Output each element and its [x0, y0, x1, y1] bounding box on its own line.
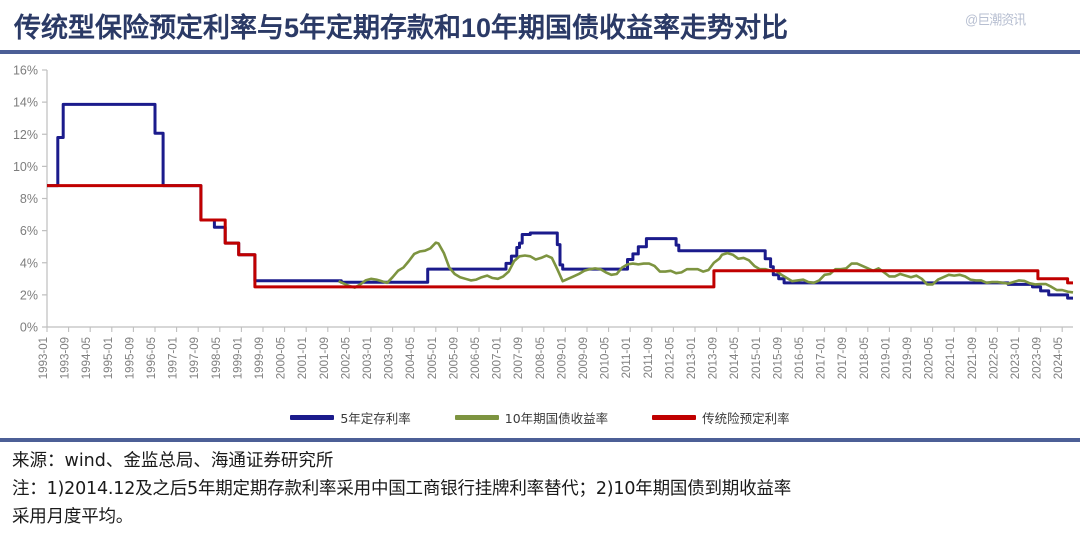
svg-text:1996-05: 1996-05 — [146, 337, 158, 379]
svg-text:2019-09: 2019-09 — [902, 337, 914, 379]
chart-legend: 5年定存利率 10年期国债收益率 传统险预定利率 — [0, 404, 1080, 430]
svg-text:2006-05: 2006-05 — [470, 337, 482, 379]
svg-text:2%: 2% — [20, 288, 38, 302]
footer-note-line-2: 采用月度平均。 — [12, 503, 1072, 531]
svg-text:2007-01: 2007-01 — [492, 337, 504, 379]
legend-item-deposit-5y: 5年定存利率 — [290, 408, 410, 427]
svg-text:2022-05: 2022-05 — [988, 337, 1000, 379]
svg-text:1995-09: 1995-09 — [124, 337, 136, 379]
svg-text:2008-05: 2008-05 — [535, 337, 547, 379]
svg-text:2003-09: 2003-09 — [384, 337, 396, 379]
svg-text:2021-01: 2021-01 — [945, 337, 957, 379]
svg-text:2004-05: 2004-05 — [405, 337, 417, 379]
svg-text:2021-09: 2021-09 — [967, 337, 979, 379]
svg-text:2015-09: 2015-09 — [772, 337, 784, 379]
footer-note-line-1: 注：1)2014.12及之后5年期定期存款利率采用中国工商银行挂牌利率替代；2)… — [12, 475, 1072, 503]
chart-footer: 来源：wind、金监总局、海通证券研究所 注：1)2014.12及之后5年期定期… — [12, 447, 1072, 531]
legend-label-deposit-5y: 5年定存利率 — [340, 408, 410, 427]
svg-text:2023-01: 2023-01 — [1010, 337, 1022, 379]
svg-text:2001-09: 2001-09 — [319, 337, 331, 379]
svg-text:2023-09: 2023-09 — [1032, 337, 1044, 379]
svg-text:2018-05: 2018-05 — [859, 337, 871, 379]
svg-text:1993-09: 1993-09 — [60, 337, 72, 379]
legend-swatch-bond-10y — [455, 415, 499, 420]
svg-text:16%: 16% — [13, 64, 38, 78]
svg-text:2010-05: 2010-05 — [600, 337, 612, 379]
svg-text:2024-05: 2024-05 — [1053, 337, 1065, 379]
legend-swatch-deposit-5y — [290, 415, 334, 420]
line-chart: 0%2%4%6%8%10%12%14%16%1993-011993-091994… — [0, 56, 1080, 406]
svg-text:1997-01: 1997-01 — [168, 337, 180, 379]
legend-item-insurance-rate: 传统险预定利率 — [652, 408, 790, 427]
legend-swatch-insurance-rate — [652, 415, 696, 420]
svg-text:2016-05: 2016-05 — [794, 337, 806, 379]
svg-text:4%: 4% — [20, 256, 38, 270]
svg-text:0%: 0% — [20, 321, 38, 335]
svg-text:2009-09: 2009-09 — [578, 337, 590, 379]
svg-text:2009-01: 2009-01 — [556, 337, 568, 379]
svg-text:10%: 10% — [13, 160, 38, 174]
svg-text:1999-09: 1999-09 — [254, 337, 266, 379]
divider-top — [0, 50, 1080, 54]
title-bar: 传统型保险预定利率与5年定期存款和10年期国债收益率走势对比 @巨潮资讯 — [0, 0, 1080, 50]
svg-text:2003-01: 2003-01 — [362, 337, 374, 379]
svg-text:8%: 8% — [20, 192, 38, 206]
svg-text:1993-01: 1993-01 — [38, 337, 50, 379]
svg-text:2013-09: 2013-09 — [708, 337, 720, 379]
svg-text:1994-05: 1994-05 — [81, 337, 93, 379]
svg-text:2015-01: 2015-01 — [751, 337, 763, 379]
svg-text:6%: 6% — [20, 224, 38, 238]
svg-text:2005-01: 2005-01 — [427, 337, 439, 379]
svg-text:2005-09: 2005-09 — [448, 337, 460, 379]
legend-item-bond-10y: 10年期国债收益率 — [455, 408, 608, 427]
svg-text:14%: 14% — [13, 96, 38, 110]
svg-text:2011-09: 2011-09 — [643, 337, 655, 378]
svg-text:2011-01: 2011-01 — [621, 337, 633, 378]
chart-plot-area: 0%2%4%6%8%10%12%14%16%1993-011993-091994… — [0, 56, 1080, 406]
legend-label-bond-10y: 10年期国债收益率 — [505, 408, 608, 427]
svg-text:1998-05: 1998-05 — [211, 337, 223, 379]
svg-text:2017-01: 2017-01 — [816, 337, 828, 379]
svg-text:2007-09: 2007-09 — [513, 337, 525, 379]
watermark-label: @巨潮资讯 — [965, 9, 1025, 29]
footer-source: 来源：wind、金监总局、海通证券研究所 — [12, 447, 1072, 475]
svg-text:2013-01: 2013-01 — [686, 337, 698, 379]
svg-text:2002-05: 2002-05 — [340, 337, 352, 379]
divider-bottom — [0, 438, 1080, 442]
svg-text:1997-09: 1997-09 — [189, 337, 201, 379]
page-title: 传统型保险预定利率与5年定期存款和10年期国债收益率走势对比 — [14, 6, 788, 45]
chart-page: 传统型保险预定利率与5年定期存款和10年期国债收益率走势对比 @巨潮资讯 0%2… — [0, 0, 1080, 542]
svg-text:2012-05: 2012-05 — [664, 337, 676, 379]
svg-text:12%: 12% — [13, 128, 38, 142]
svg-text:2000-05: 2000-05 — [276, 337, 288, 379]
svg-text:2001-01: 2001-01 — [297, 337, 309, 379]
svg-text:1995-01: 1995-01 — [103, 337, 115, 379]
legend-label-insurance-rate: 传统险预定利率 — [702, 408, 790, 427]
series-line-传统险预定利率 — [47, 186, 1073, 287]
svg-text:2017-09: 2017-09 — [837, 337, 849, 379]
svg-text:2019-01: 2019-01 — [880, 337, 892, 379]
svg-text:2014-05: 2014-05 — [729, 337, 741, 379]
svg-text:2020-05: 2020-05 — [924, 337, 936, 379]
svg-text:1999-01: 1999-01 — [232, 337, 244, 379]
